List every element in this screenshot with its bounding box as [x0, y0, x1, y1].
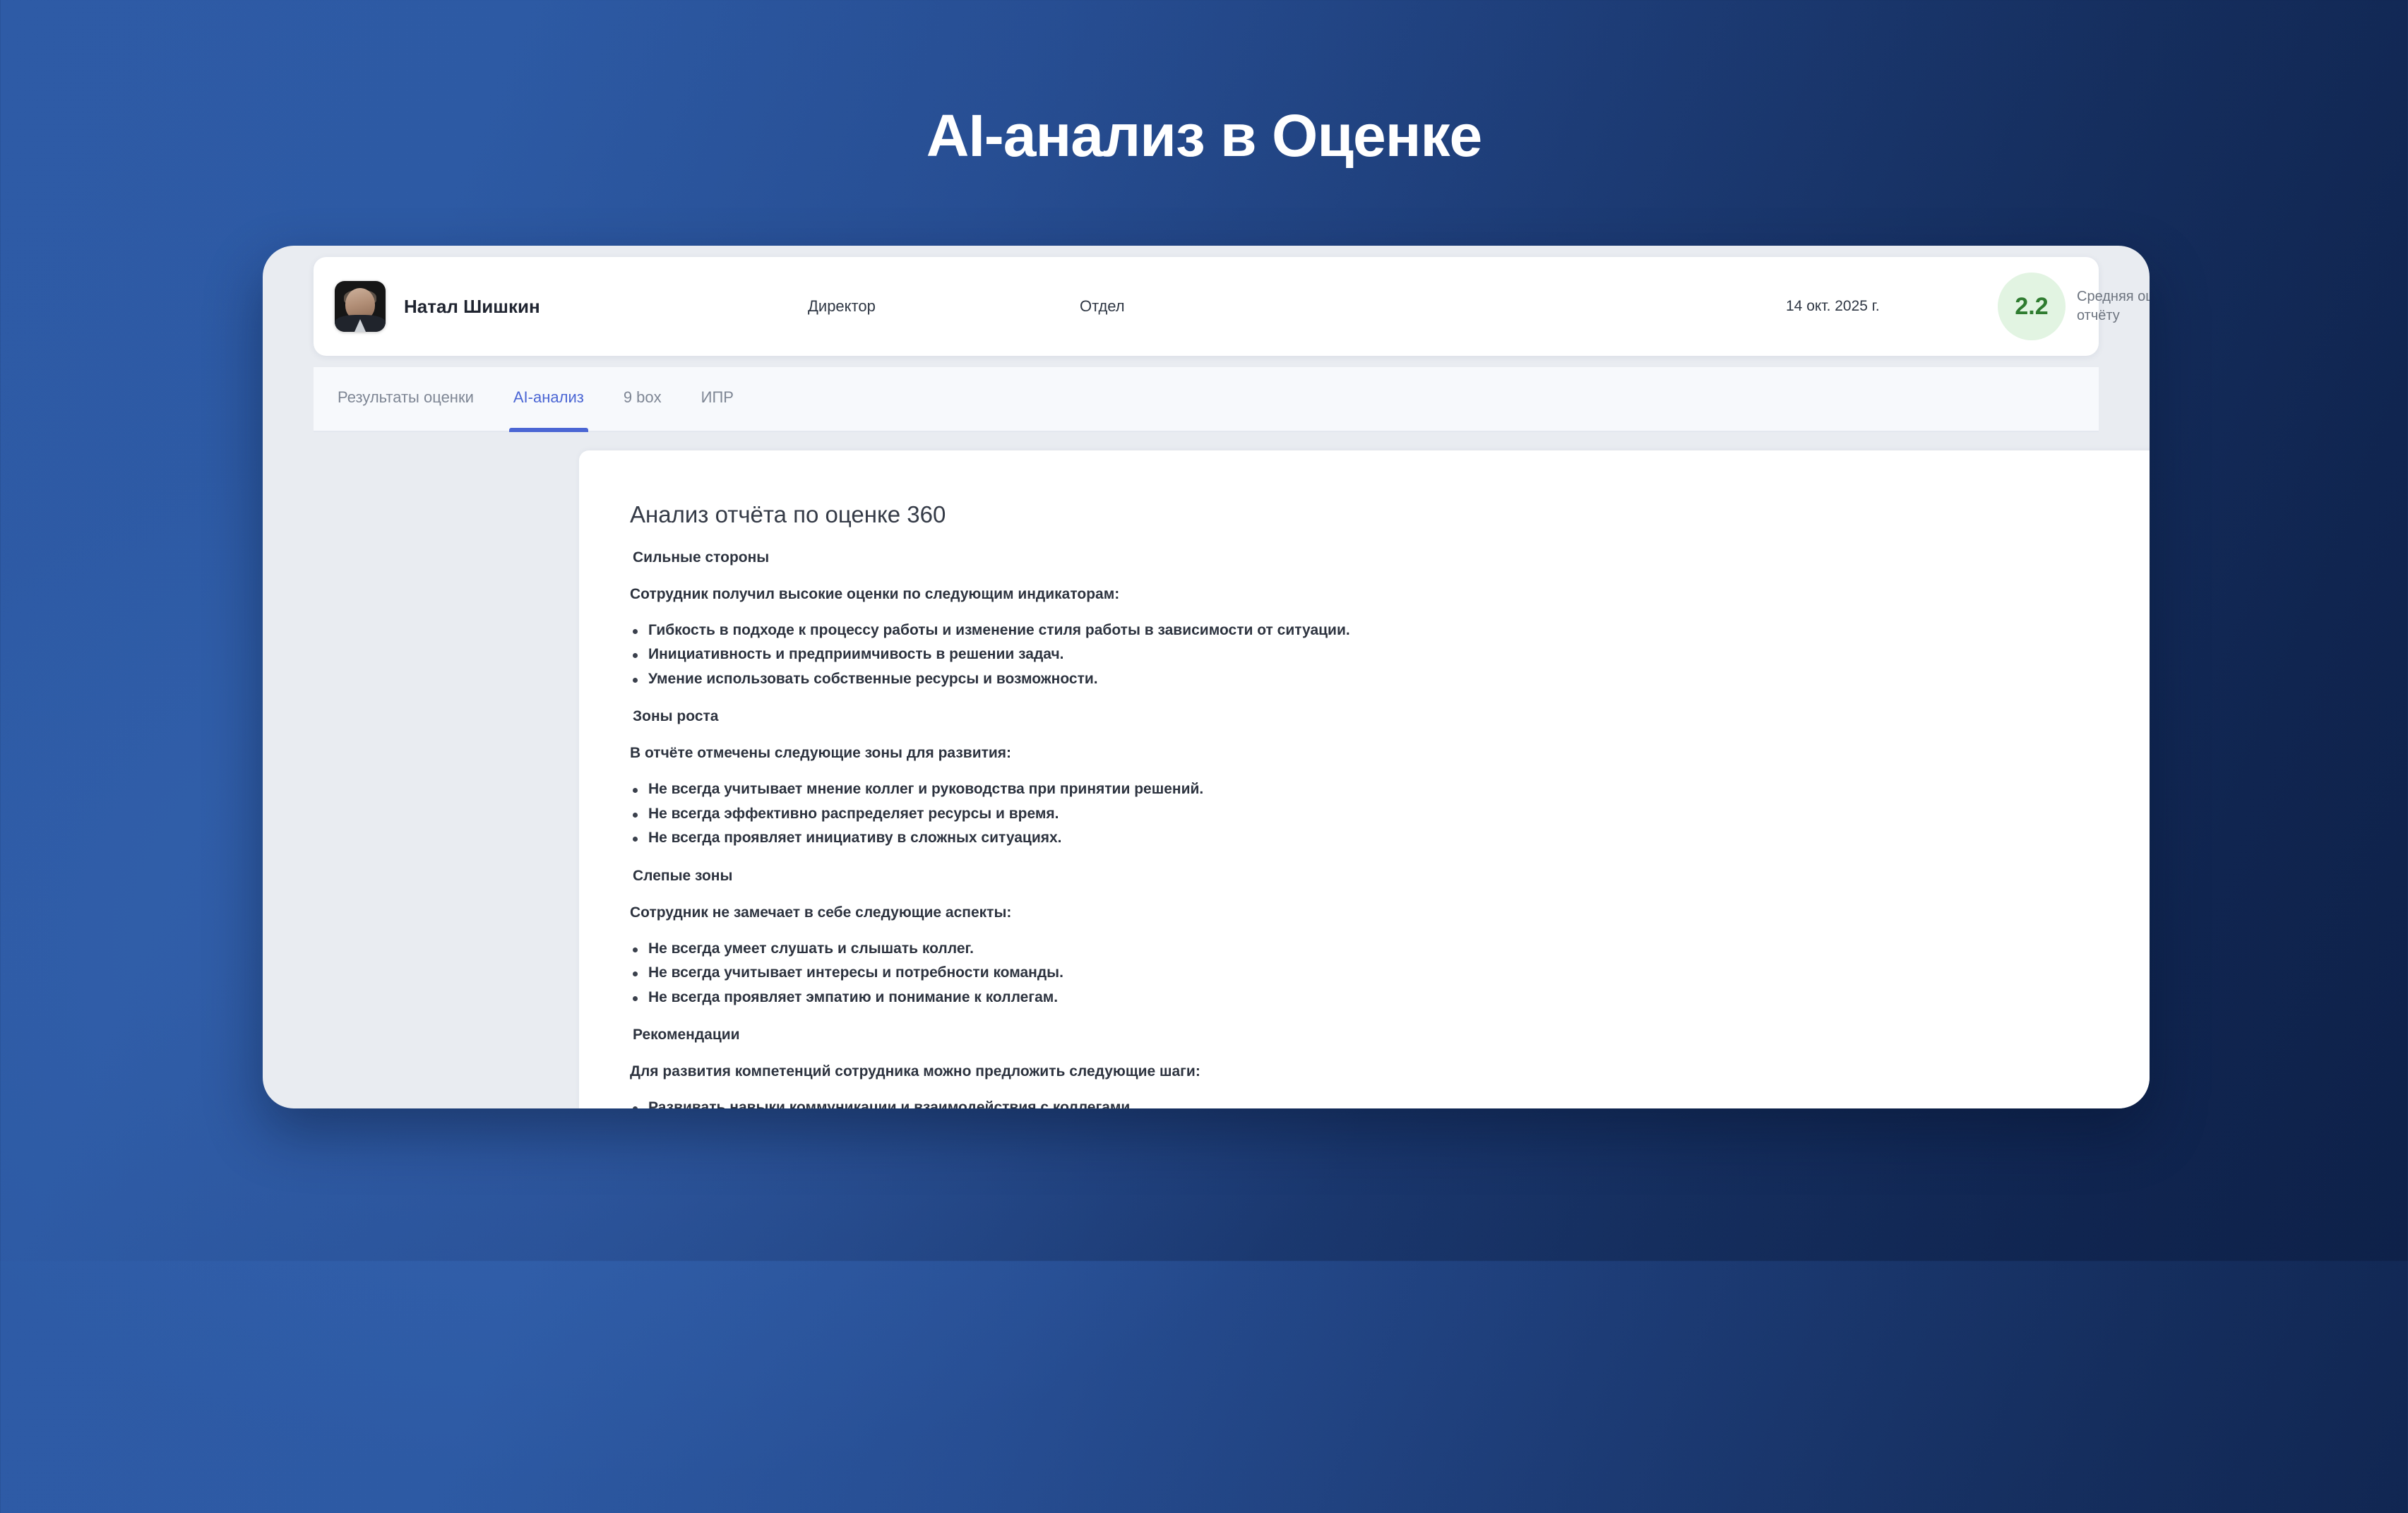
section-intro: Сотрудник не замечает в себе следующие а… [630, 904, 2150, 921]
list-item: Инициативность и предприимчивость в реше… [630, 644, 2150, 665]
list-item: Не всегда учитывает интересы и потребнос… [630, 962, 2150, 983]
average-score-label: Средняя оценка по отчёту [2077, 287, 2150, 325]
section-heading: Зоны роста [633, 708, 2150, 725]
tab-ai-analysis[interactable]: AI-анализ [509, 367, 588, 431]
person-role: Директор [808, 297, 876, 316]
list-item: Не всегда учитывает мнение коллег и руко… [630, 779, 2150, 800]
bullet-list: Не всегда учитывает мнение коллег и руко… [630, 779, 2150, 849]
section-blind-spots: Слепые зоны Сотрудник не замечает в себе… [630, 868, 2150, 1008]
tab-results[interactable]: Результаты оценки [333, 367, 478, 431]
avatar [335, 281, 386, 332]
bullet-list: Не всегда умеет слушать и слышать коллег… [630, 938, 2150, 1008]
profile-header-card: Натал Шишкин Директор Отдел 14 окт. 2025… [314, 257, 2099, 356]
app-window-frame: Натал Шишкин Директор Отдел 14 окт. 2025… [263, 246, 2150, 1108]
person-department: Отдел [1080, 297, 1125, 316]
report-date: 14 окт. 2025 г. [1786, 298, 1880, 315]
list-item: Не всегда проявляет инициативу в сложных… [630, 827, 2150, 849]
tab-9box[interactable]: 9 box [619, 367, 666, 431]
bullet-list: Гибкость в подходе к процессу работы и и… [630, 620, 2150, 690]
section-strengths: Сильные стороны Сотрудник получил высоки… [630, 549, 2150, 690]
content-title: Анализ отчёта по оценке 360 [630, 501, 2150, 528]
list-item: Развивать навыки коммуникации и взаимоде… [630, 1097, 2150, 1108]
section-growth-zones: Зоны роста В отчёте отмечены следующие з… [630, 708, 2150, 849]
status-badge: 2.2 [1998, 273, 2066, 340]
list-item: Умение использовать собственные ресурсы … [630, 669, 2150, 690]
list-item: Гибкость в подходе к процессу работы и и… [630, 620, 2150, 641]
list-item: Не всегда эффективно распределяет ресурс… [630, 803, 2150, 825]
average-score-group: 2.2 Средняя оценка по отчёту [1998, 273, 2150, 340]
page-title: AI-анализ в Оценке [0, 106, 2408, 165]
bullet-list: Развивать навыки коммуникации и взаимоде… [630, 1097, 2150, 1108]
person-name: Натал Шишкин [404, 296, 540, 318]
section-heading: Рекомендации [633, 1027, 2150, 1043]
section-heading: Слепые зоны [633, 868, 2150, 885]
list-item: Не всегда умеет слушать и слышать коллег… [630, 938, 2150, 959]
list-item: Не всегда проявляет эмпатию и понимание … [630, 987, 2150, 1008]
section-recommendations: Рекомендации Для развития компетенций со… [630, 1027, 2150, 1108]
section-intro: Сотрудник получил высокие оценки по след… [630, 586, 2150, 603]
tab-ipr[interactable]: ИПР [697, 367, 738, 431]
section-heading: Сильные стороны [633, 549, 2150, 566]
tab-bar: Результаты оценки AI-анализ 9 box ИПР [314, 367, 2099, 432]
section-intro: Для развития компетенций сотрудника можн… [630, 1063, 2150, 1080]
ai-analysis-content: Анализ отчёта по оценке 360 Сильные стор… [579, 450, 2150, 1108]
section-intro: В отчёте отмечены следующие зоны для раз… [630, 745, 2150, 762]
